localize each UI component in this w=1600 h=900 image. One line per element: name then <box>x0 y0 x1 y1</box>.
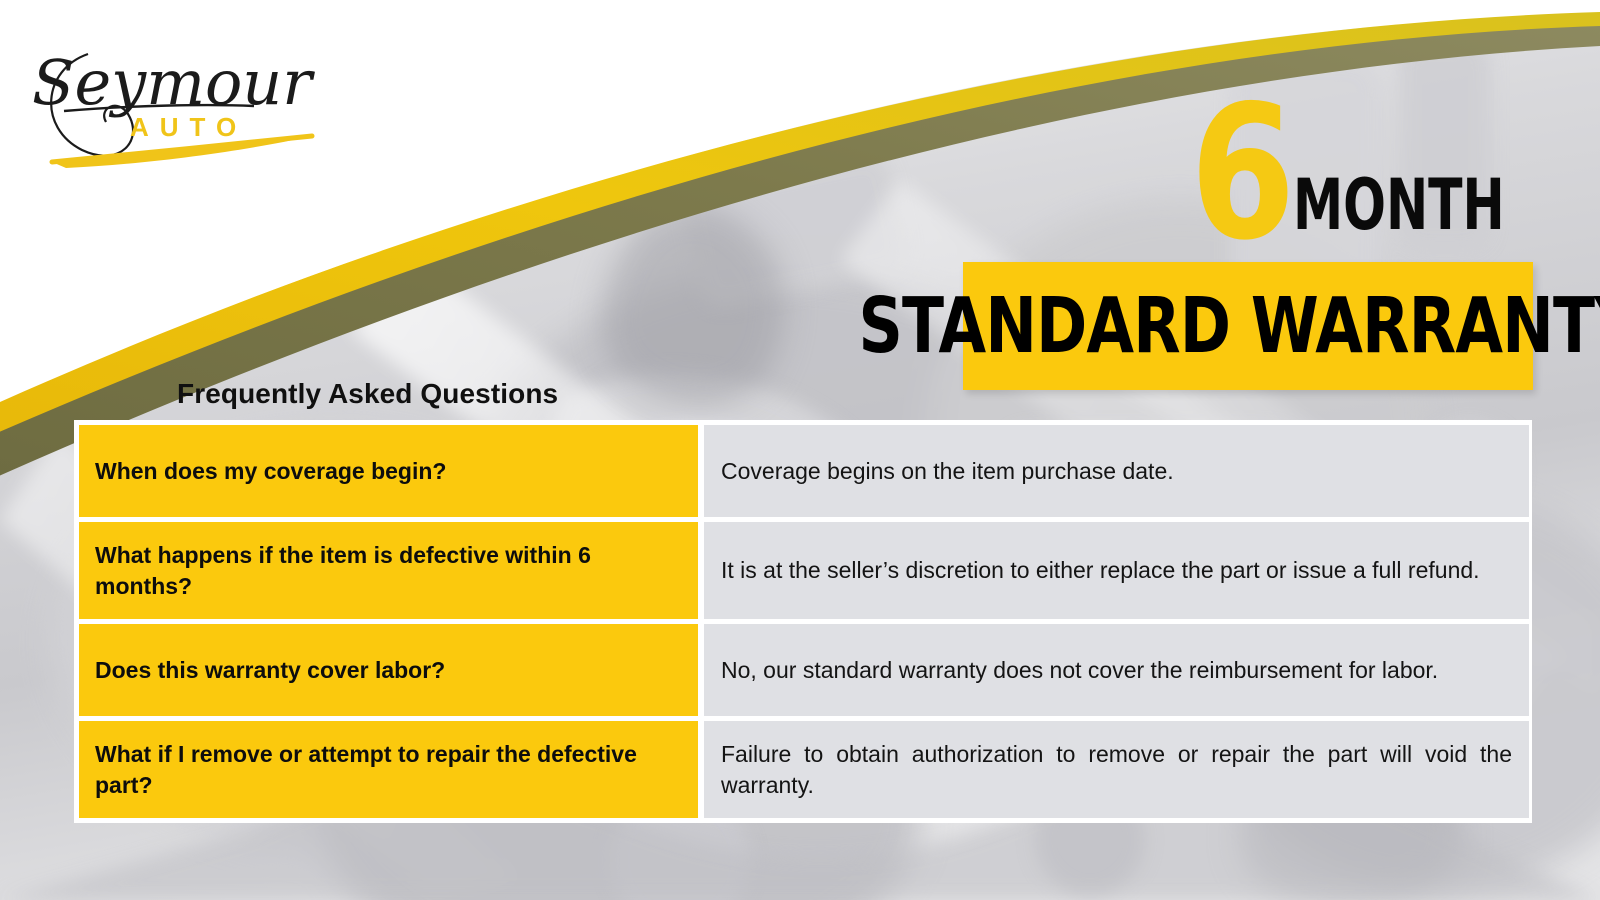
duration-unit: MONTH <box>1293 175 1505 235</box>
logo-auto-text: AUTO <box>130 112 247 142</box>
faq-answer-cell: No, our standard warranty does not cover… <box>704 624 1529 716</box>
standard-warranty-banner: STANDARD WARRANTY <box>963 262 1533 390</box>
table-row: Does this warranty cover labor? No, our … <box>79 624 1529 716</box>
table-row: What if I remove or attempt to repair th… <box>79 721 1529 818</box>
faq-question-cell: When does my coverage begin? <box>79 425 698 517</box>
faq-answer-cell: Coverage begins on the item purchase dat… <box>704 425 1529 517</box>
faq-answer-cell: Failure to obtain authorization to remov… <box>704 721 1529 818</box>
faq-question-cell: What happens if the item is defective wi… <box>79 522 698 619</box>
duration-headline: 6 MONTH <box>1190 70 1520 245</box>
faq-question-cell: What if I remove or attempt to repair th… <box>79 721 698 818</box>
seymour-auto-logo: Seymour AUTO <box>26 18 336 178</box>
warranty-slide: Seymour AUTO 6 MONTH STANDARD WARRANTY F… <box>0 0 1600 900</box>
faq-table: When does my coverage begin? Coverage be… <box>74 420 1532 823</box>
warranty-banner-title: STANDARD WARRANTY <box>858 288 1600 365</box>
faq-answer-cell: It is at the seller’s discretion to eith… <box>704 522 1529 619</box>
logo-script-text: Seymour <box>32 46 315 119</box>
duration-number: 6 <box>1190 101 1292 245</box>
faq-heading: Frequently Asked Questions <box>177 378 558 410</box>
table-row: When does my coverage begin? Coverage be… <box>79 425 1529 517</box>
faq-question-cell: Does this warranty cover labor? <box>79 624 698 716</box>
table-row: What happens if the item is defective wi… <box>79 522 1529 619</box>
